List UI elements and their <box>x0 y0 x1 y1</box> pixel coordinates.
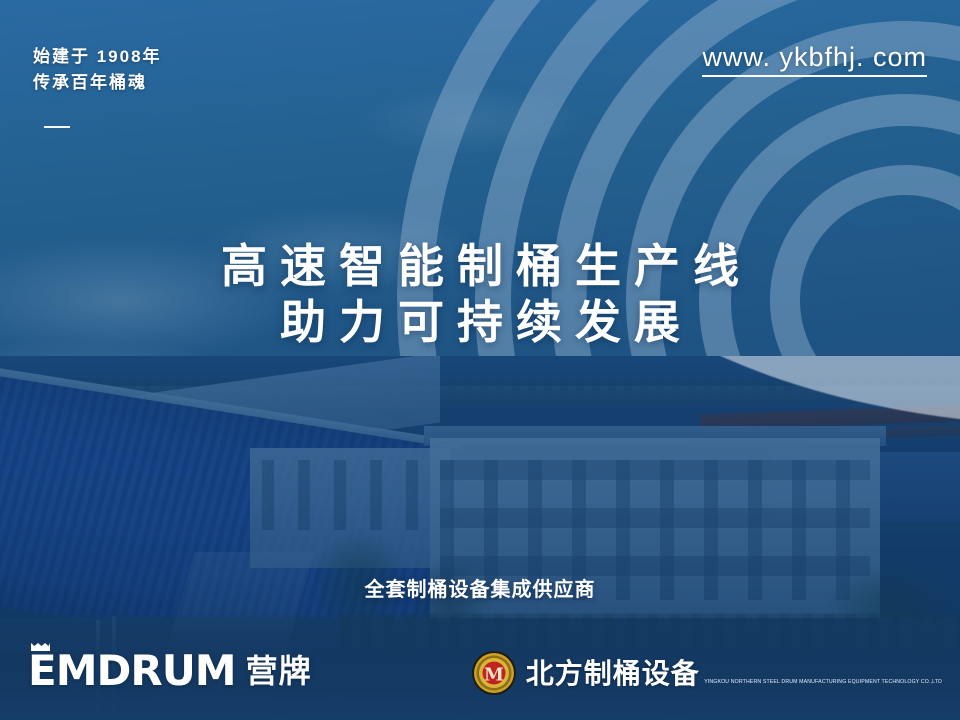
title-line-1: 高速智能制桶生产线 <box>0 238 960 294</box>
company-seal-icon: M <box>471 650 517 696</box>
company-chinese-name: 北方制桶设备 <box>526 658 700 689</box>
company-logo: M 北方制桶设备 YINGKOU NORTHERN STEEL DRUM MAN… <box>471 650 942 696</box>
main-title: 高速智能制桶生产线 助力可持续发展 <box>0 238 960 350</box>
brand-chinese-name: 营牌 <box>246 652 312 690</box>
crown-icon <box>31 643 50 651</box>
title-line-2: 助力可持续发展 <box>0 294 960 350</box>
brand-wordmark-wrap: EMDRUM <box>28 648 236 694</box>
brand-wordmark-text: EMDRUM <box>28 646 236 695</box>
tagline-line-2: 传承百年桶魂 <box>33 70 162 96</box>
brand-logo: EMDRUM 营牌 <box>28 648 312 694</box>
sub-caption: 全套制桶设备集成供应商 <box>0 573 960 602</box>
company-english-name: YINGKOU NORTHERN STEEL DRUM MANUFACTURIN… <box>704 679 942 685</box>
presentation-slide: 始建于 1908年 传承百年桶魂 www. ykbfhj. com 高速智能制桶… <box>0 0 960 720</box>
website-url[interactable]: www. ykbfhj. com <box>702 41 927 77</box>
company-tagline: 始建于 1908年 传承百年桶魂 <box>33 44 162 96</box>
tagline-line-1: 始建于 1908年 <box>33 44 162 70</box>
tagline-divider <box>44 126 70 128</box>
svg-text:M: M <box>484 665 504 686</box>
company-name-block: 北方制桶设备 YINGKOU NORTHERN STEEL DRUM MANUF… <box>526 658 942 689</box>
